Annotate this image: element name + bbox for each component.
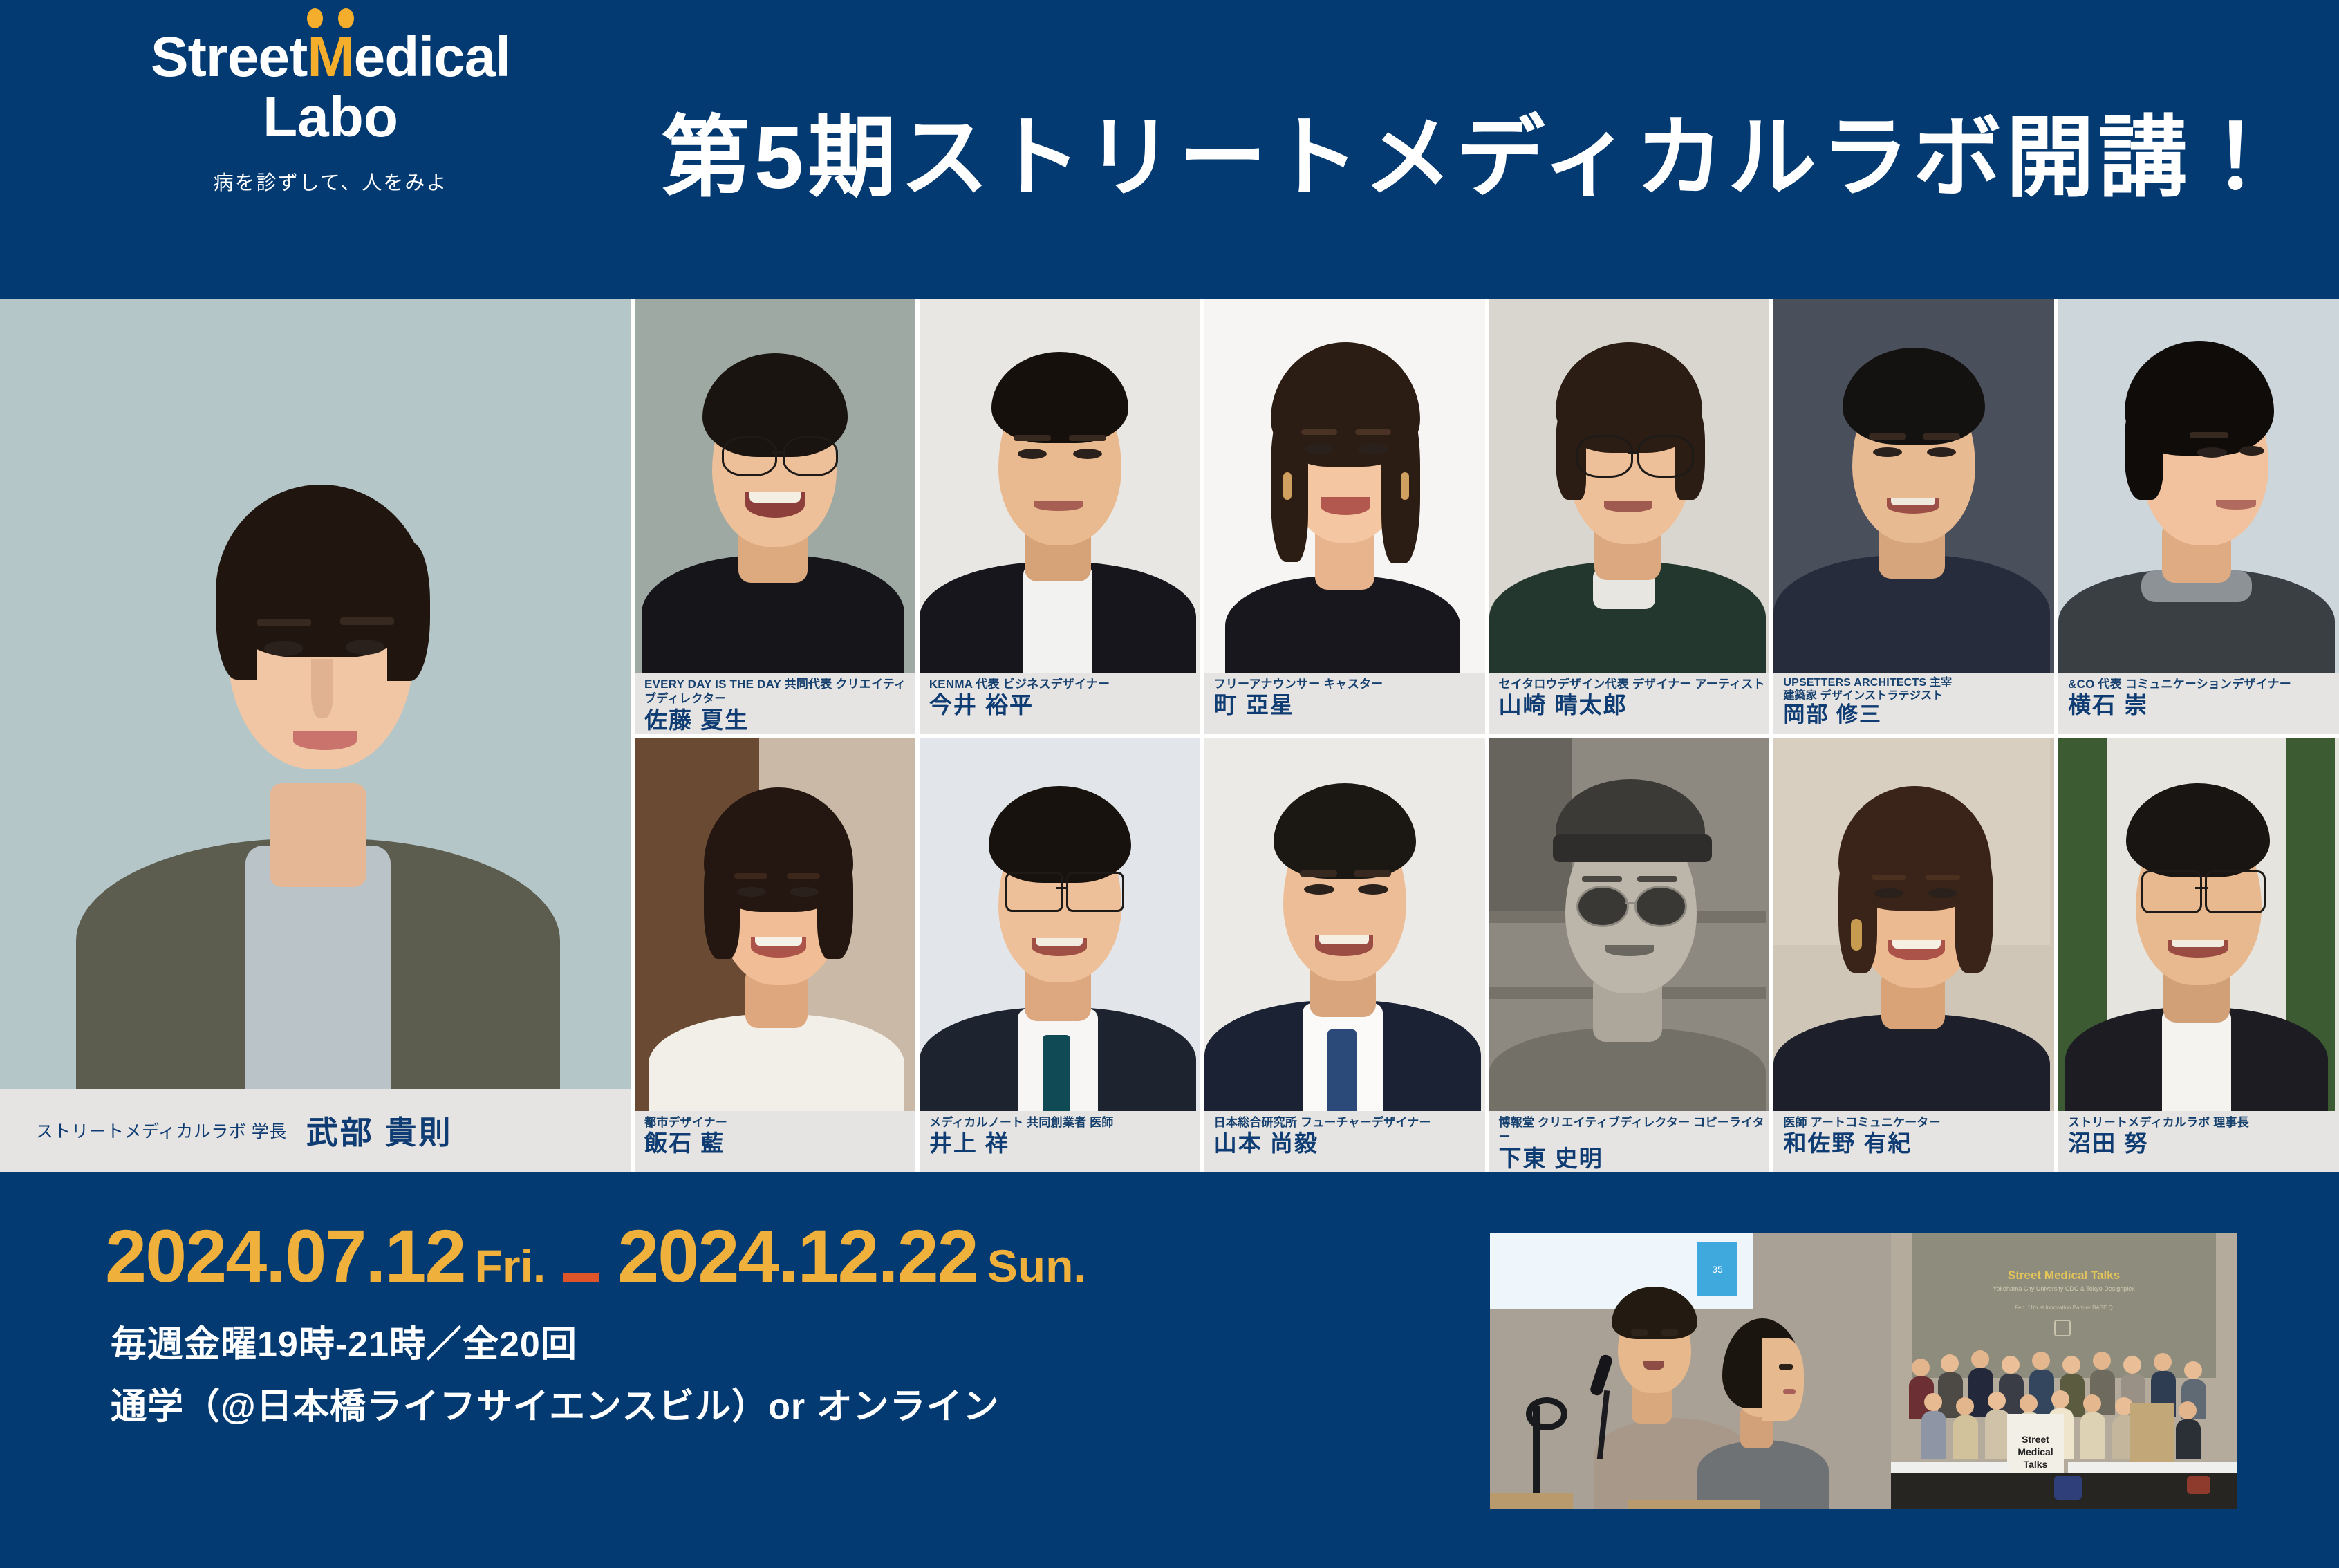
course-details: 毎週金曜19時-21時／全20回 通学（@日本橋ライフサイエンスビル）or オン…	[111, 1327, 1000, 1451]
speaker-role: &CO 代表 コミュニケーションデザイナー	[2068, 677, 2339, 691]
end-day: Sun.	[987, 1243, 1086, 1289]
speaker-name: 飯石 藍	[644, 1131, 915, 1156]
course-date-range: 2024.07.12 Fri. 2024.12.22 Sun.	[105, 1219, 1086, 1294]
logo-m-heads-icon	[306, 8, 355, 26]
banner-line-3: Talks	[2024, 1459, 2048, 1470]
speaker-card[interactable]: ストリートメディカルラボ 理事長 沼田 努	[2058, 738, 2339, 1172]
speaker-role: ストリートメディカルラボ 理事長	[2068, 1115, 2339, 1130]
speaker-caption: UPSETTERS ARCHITECTS 主宰 建築家 デザインストラテジスト …	[1773, 673, 2054, 734]
speaker-card[interactable]: セイタロウデザイン代表 デザイナー アーティスト 山崎 晴太郎	[1489, 299, 1770, 734]
speaker-caption: 博報堂 クリエイティブディレクター コピーライター 下東 史明	[1489, 1111, 1770, 1172]
featured-speaker-caption: ストリートメディカルラボ 学長 武部 貴則	[0, 1089, 631, 1172]
banner-line-2: Medical	[2017, 1446, 2053, 1457]
slide-page-number: 35	[1697, 1260, 1737, 1278]
speaker-card[interactable]: EVERY DAY IS THE DAY 共同代表 クリエイティブディレクター …	[635, 299, 915, 734]
course-format-line: 通学（@日本橋ライフサイエンスビル）or オンライン	[111, 1389, 1000, 1425]
speaker-name: 和佐野 有紀	[1783, 1131, 2054, 1156]
start-day: Fri.	[475, 1243, 546, 1289]
speaker-caption: フリーアナウンサー キャスター 町 亞星	[1204, 673, 1485, 734]
slide-title: Street Medical Talks	[1932, 1269, 2195, 1282]
speaker-card[interactable]: 博報堂 クリエイティブディレクター コピーライター 下東 史明	[1489, 738, 1770, 1172]
speaker-caption: メディカルノート 共同創業者 医師 井上 祥	[920, 1111, 1200, 1172]
speaker-role: EVERY DAY IS THE DAY 共同代表 クリエイティブディレクター	[644, 677, 915, 707]
speaker-name: 横石 崇	[2068, 693, 2339, 718]
poster-headline: 第5期ストリートメディカルラボ開講！	[622, 0, 2323, 299]
speaker-caption: ストリートメディカルラボ 理事長 沼田 努	[2058, 1111, 2339, 1172]
speaker-name: 町 亞星	[1214, 693, 1485, 718]
featured-speaker-photo	[0, 299, 631, 1089]
speaker-caption: 医師 アートコミュニケーター 和佐野 有紀	[1773, 1111, 2054, 1172]
logo-text-edical: edical	[354, 26, 510, 88]
speaker-role: 都市デザイナー	[644, 1115, 915, 1130]
event-photo-collage: 35	[1490, 1233, 2237, 1509]
speaker-role: 日本総合研究所 フューチャーデザイナー	[1214, 1115, 1485, 1130]
start-date: 2024.07.12	[105, 1219, 465, 1294]
featured-speaker-card[interactable]: ストリートメディカルラボ 学長 武部 貴則	[0, 299, 631, 1172]
speaker-card[interactable]: &CO 代表 コミュニケーションデザイナー 横石 崇	[2058, 299, 2339, 734]
speaker-name: 今井 裕平	[929, 693, 1200, 718]
end-date: 2024.12.22	[617, 1219, 978, 1294]
speaker-name: 下東 史明	[1499, 1146, 1770, 1171]
speaker-role: メディカルノート 共同創業者 医師	[929, 1115, 1200, 1130]
speaker-card[interactable]: フリーアナウンサー キャスター 町 亞星	[1204, 299, 1485, 734]
speaker-card[interactable]: 医師 アートコミュニケーター 和佐野 有紀	[1773, 738, 2054, 1172]
speaker-name: 沼田 努	[2068, 1131, 2339, 1156]
logo-tagline: 病を診ずして、人をみよ	[102, 167, 559, 196]
featured-speaker-name: 武部 貴則	[306, 1108, 453, 1153]
brand-logo: StreetMedical Labo 病を診ずして、人をみよ	[102, 29, 559, 196]
logo-wordmark-line1: StreetMedical	[102, 29, 559, 86]
speaker-photo	[920, 738, 1200, 1111]
speaker-photo	[2058, 738, 2339, 1111]
speaker-name: 井上 祥	[929, 1131, 1200, 1156]
speaker-photo	[635, 738, 915, 1111]
featured-speaker-role: ストリートメディカルラボ 学長	[36, 1118, 287, 1143]
course-schedule-line: 毎週金曜19時-21時／全20回	[111, 1327, 1000, 1363]
speakers-grid: EVERY DAY IS THE DAY 共同代表 クリエイティブディレクター …	[631, 299, 2339, 1172]
speaker-name: 山崎 晴太郎	[1499, 693, 1770, 718]
speaker-role: 博報堂 クリエイティブディレクター コピーライター	[1499, 1115, 1770, 1145]
logo-m-letter: M	[307, 26, 353, 88]
speaker-caption: KENMA 代表 ビジネスデザイナー 今井 裕平	[920, 673, 1200, 734]
speaker-card[interactable]: KENMA 代表 ビジネスデザイナー 今井 裕平	[920, 299, 1200, 734]
speaker-role: UPSETTERS ARCHITECTS 主宰 建築家 デザインストラテジスト	[1783, 677, 2054, 703]
footer-band: 2024.07.12 Fri. 2024.12.22 Sun. 毎週金曜19時-…	[0, 1172, 2339, 1568]
speaker-caption: &CO 代表 コミュニケーションデザイナー 横石 崇	[2058, 673, 2339, 734]
event-photo-podium: 35	[1490, 1233, 1891, 1509]
speaker-photo	[1489, 299, 1770, 673]
banner-line-1: Street	[2022, 1434, 2049, 1445]
slide-subtitle: Yokohama City University CDC & Tokyo Des…	[1932, 1285, 2195, 1292]
header-band: StreetMedical Labo 病を診ずして、人をみよ 第5期ストリートメ…	[0, 0, 2339, 299]
speaker-caption: 都市デザイナー 飯石 藍	[635, 1111, 915, 1172]
logo-text-street: Street	[151, 26, 307, 88]
speaker-photo	[1204, 738, 1485, 1111]
speaker-card[interactable]: UPSETTERS ARCHITECTS 主宰 建築家 デザインストラテジスト …	[1773, 299, 2054, 734]
speaker-name: 佐藤 夏生	[644, 708, 915, 733]
speaker-photo	[1204, 299, 1485, 673]
speaker-caption: セイタロウデザイン代表 デザイナー アーティスト 山崎 晴太郎	[1489, 673, 1770, 734]
poster-root: StreetMedical Labo 病を診ずして、人をみよ 第5期ストリートメ…	[0, 0, 2339, 1568]
speaker-photo	[920, 299, 1200, 673]
logo-wordmark-line2: Labo	[102, 87, 559, 149]
speaker-role: セイタロウデザイン代表 デザイナー アーティスト	[1499, 677, 1770, 691]
speaker-card[interactable]: 都市デザイナー 飯石 藍	[635, 738, 915, 1172]
speaker-photo	[635, 299, 915, 673]
speaker-photo	[1773, 299, 2054, 673]
speaker-card[interactable]: 日本総合研究所 フューチャーデザイナー 山本 尚毅	[1204, 738, 1485, 1172]
speaker-role: KENMA 代表 ビジネスデザイナー	[929, 677, 1200, 691]
speakers-section: ストリートメディカルラボ 学長 武部 貴則	[0, 299, 2339, 1172]
slide-note: Feb. 11th at Innovation Partner BASE Q	[1932, 1305, 2195, 1311]
speaker-role: 医師 アートコミュニケーター	[1783, 1115, 2054, 1130]
speaker-name: 岡部 修三	[1783, 703, 2054, 727]
speaker-caption: 日本総合研究所 フューチャーデザイナー 山本 尚毅	[1204, 1111, 1485, 1172]
date-range-dash-icon	[563, 1273, 599, 1282]
speaker-role: フリーアナウンサー キャスター	[1214, 677, 1485, 691]
speaker-card[interactable]: メディカルノート 共同創業者 医師 井上 祥	[920, 738, 1200, 1172]
speaker-photo	[1489, 738, 1770, 1111]
speaker-photo	[2058, 299, 2339, 673]
logo-m-figure-icon: M	[307, 29, 353, 86]
speaker-photo	[1773, 738, 2054, 1111]
headline-text: 第5期ストリートメディカルラボ開講！	[662, 86, 2284, 214]
speaker-caption: EVERY DAY IS THE DAY 共同代表 クリエイティブディレクター …	[635, 673, 915, 734]
speaker-name: 山本 尚毅	[1214, 1131, 1485, 1156]
event-photo-group: Street Medical Talks Yokohama City Unive…	[1891, 1233, 2237, 1509]
